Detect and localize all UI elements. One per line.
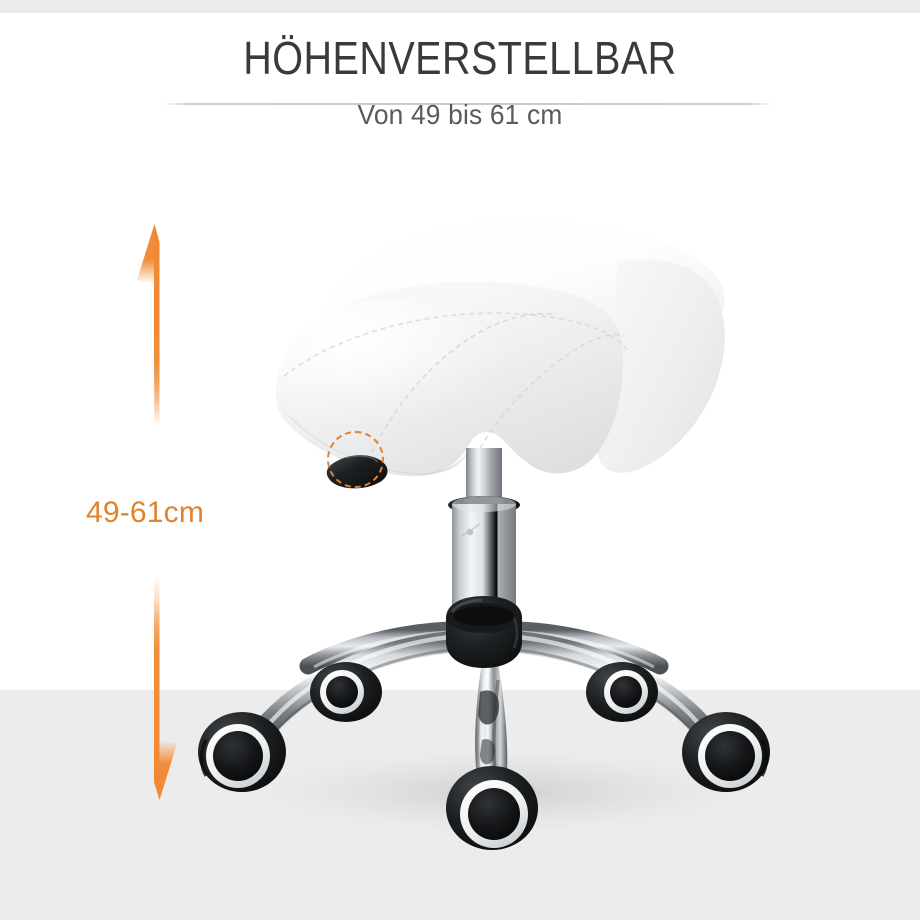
caster-right [682, 712, 770, 792]
header: HÖHENVERSTELLBAR Von 49 bis 61 cm [0, 13, 920, 131]
base-hub [446, 596, 522, 668]
seat-highlight [268, 300, 504, 432]
caster-front [446, 766, 538, 850]
product-feature-image: HÖHENVERSTELLBAR Von 49 bis 61 cm [0, 0, 920, 920]
dashed-circle-highlight [327, 431, 384, 488]
page-title: HÖHENVERSTELLBAR [64, 13, 855, 82]
caster-left [198, 712, 286, 792]
caster-rear-left [310, 662, 382, 722]
base-arm-front [475, 650, 507, 786]
top-band [0, 0, 920, 13]
saddle-stool-illustration [150, 180, 850, 880]
page-subtitle: Von 49 bis 61 cm [28, 82, 893, 131]
caster-rear-right [586, 662, 658, 722]
